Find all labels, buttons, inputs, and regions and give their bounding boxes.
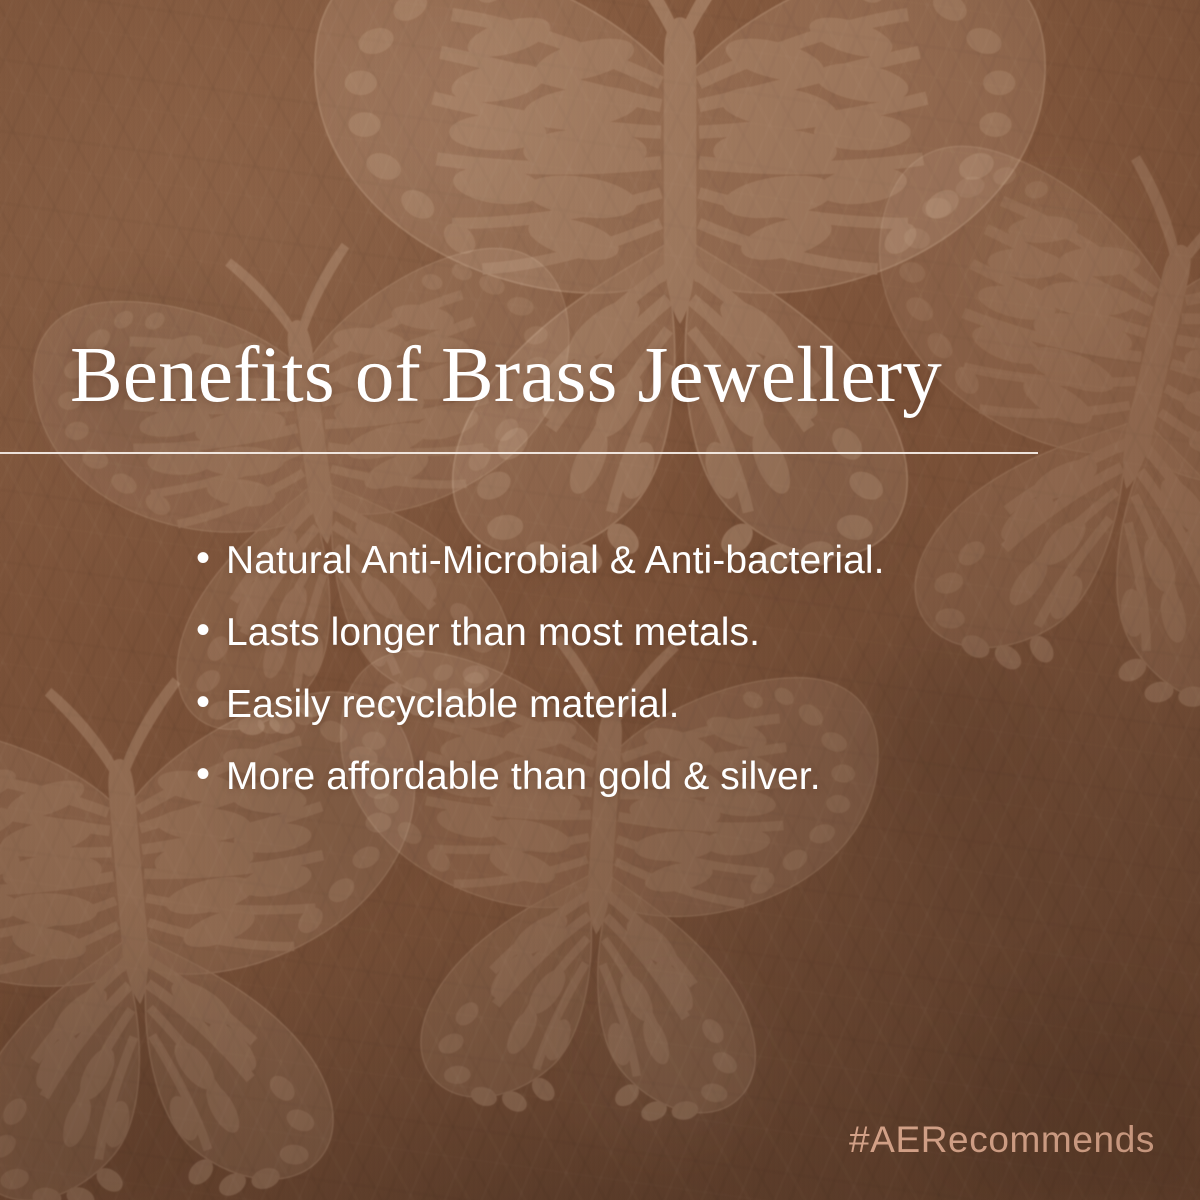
- bullet-point-icon: •: [196, 682, 226, 722]
- bullet-point-icon: •: [196, 610, 226, 650]
- title-divider-rule: [0, 452, 1038, 454]
- bullet-point-icon: •: [196, 538, 226, 578]
- poster-canvas: Benefits of Brass Jewellery • Natural An…: [0, 0, 1200, 1200]
- list-item: • More affordable than gold & silver.: [196, 756, 1156, 828]
- hashtag-label: #AERecommends: [849, 1121, 1155, 1158]
- list-item: • Lasts longer than most metals.: [196, 612, 1156, 684]
- page-title: Benefits of Brass Jewellery: [70, 336, 942, 415]
- list-item-label: More affordable than gold & silver.: [226, 757, 821, 796]
- poster-content: Benefits of Brass Jewellery • Natural An…: [0, 0, 1200, 1200]
- bullet-point-icon: •: [196, 754, 226, 794]
- list-item-label: Natural Anti-Microbial & Anti-bacterial.: [226, 541, 885, 580]
- list-item: • Natural Anti-Microbial & Anti-bacteria…: [196, 540, 1156, 612]
- benefits-list: • Natural Anti-Microbial & Anti-bacteria…: [196, 540, 1156, 828]
- list-item-label: Easily recyclable material.: [226, 685, 680, 724]
- list-item: • Easily recyclable material.: [196, 684, 1156, 756]
- list-item-label: Lasts longer than most metals.: [226, 613, 760, 652]
